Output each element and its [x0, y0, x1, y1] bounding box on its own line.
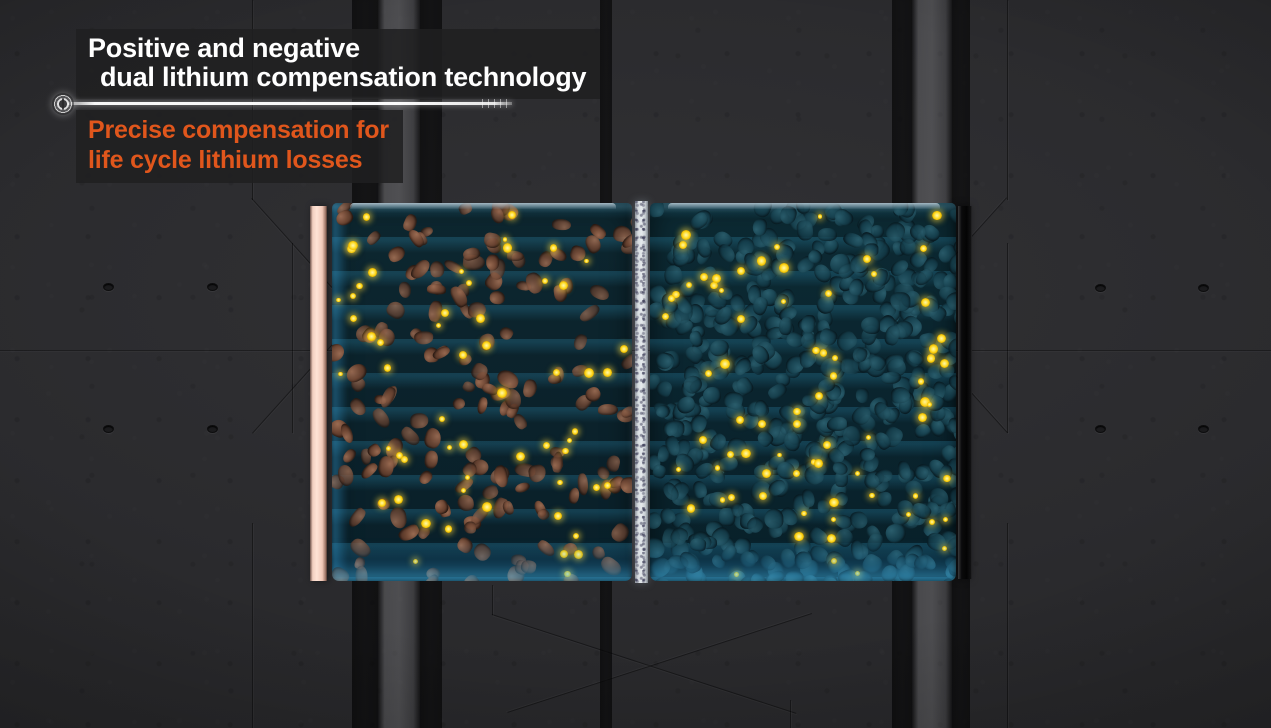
lithium-ion [476, 314, 485, 323]
lithium-ion [584, 259, 589, 264]
lithium-ion [918, 378, 924, 384]
lithium-ion [516, 452, 525, 461]
cathode-top-sheen [350, 203, 616, 209]
lithium-ion [812, 347, 820, 355]
subtitle-line-1: Precise compensation for [88, 115, 389, 145]
panel-seam [1007, 523, 1008, 728]
lithium-ion [367, 332, 376, 341]
lithium-ion [676, 467, 681, 472]
lithium-ion [386, 446, 391, 451]
panel-seam [292, 243, 293, 433]
anode-particle [764, 509, 784, 529]
lithium-ion [603, 368, 612, 377]
rivet-7 [1198, 425, 1209, 433]
rivet-4 [1095, 284, 1106, 292]
anode-particle [860, 317, 879, 334]
lithium-ion [503, 243, 513, 253]
cathode-bottom-glow [332, 541, 632, 581]
panel-seam [1007, 243, 1008, 433]
anode-top-sheen [668, 203, 940, 209]
anode-electrode-layer [650, 203, 956, 581]
lithium-ion [348, 241, 357, 250]
lithium-ion [737, 267, 745, 275]
lithium-ion [445, 525, 452, 532]
rivet-1 [207, 283, 218, 291]
subtitle-panel: Precise compensation for life cycle lith… [76, 110, 403, 183]
lithium-ion [378, 499, 387, 508]
lithium-ion [681, 230, 691, 240]
lithium-ion [686, 282, 692, 288]
lithium-ion [720, 359, 730, 369]
lithium-ion [508, 211, 516, 219]
lithium-ion [503, 237, 508, 242]
cathode-electrode-layer [332, 203, 632, 581]
lithium-ion [793, 408, 801, 416]
lithium-ion [679, 241, 687, 249]
lithium-ion [943, 475, 950, 482]
lithium-ion [712, 274, 721, 283]
lithium-ion [758, 420, 766, 428]
anode-particle [778, 317, 792, 336]
lithium-ion [710, 282, 718, 290]
rivet-3 [207, 425, 218, 433]
cathode-particle [464, 522, 476, 534]
rivet-6 [1095, 425, 1106, 433]
lithium-ion [593, 484, 600, 491]
title-line-1: Positive and negative [88, 34, 586, 63]
panel-seam [492, 585, 493, 615]
lithium-ion [687, 504, 696, 513]
anode-particle [795, 220, 813, 241]
lithium-ion [572, 428, 579, 435]
anode-particle [752, 218, 767, 237]
lithium-ion [932, 211, 942, 221]
lithium-ion [830, 372, 838, 380]
lithium-ion [727, 451, 734, 458]
divider-tick-marks [482, 99, 512, 108]
lithium-ion [350, 315, 357, 322]
lithium-ion [814, 459, 822, 467]
lithium-ion [368, 268, 377, 277]
lithium-ion [554, 512, 562, 520]
lithium-ion [781, 299, 786, 304]
panel-seam [252, 523, 253, 728]
lithium-ion [363, 213, 371, 221]
lithium-ion [927, 402, 932, 407]
lithium-ion [584, 368, 594, 378]
panel-seam [790, 700, 791, 728]
lithium-ion [557, 480, 563, 486]
anode-bottom-glow [650, 541, 956, 581]
lithium-ion [829, 498, 838, 507]
anode-current-collector [958, 206, 972, 579]
anode-particle [801, 314, 816, 333]
lithium-ion [668, 295, 675, 302]
subtitle-line-2: life cycle lithium losses [88, 145, 389, 175]
anode-particle [666, 420, 684, 437]
lithium-ion [705, 370, 712, 377]
lithium-ion [482, 502, 492, 512]
title-line-2: dual lithium compensation technology [88, 63, 586, 92]
rivet-2 [103, 425, 114, 433]
knob-bar-icon [62, 98, 64, 110]
cathode-edge-glow [332, 203, 348, 581]
rivet-0 [103, 283, 114, 291]
lithium-ion [832, 355, 838, 361]
lithium-ion [562, 448, 569, 455]
lithium-ion [779, 263, 789, 273]
title-panel: Positive and negative dual lithium compe… [76, 29, 600, 99]
lithium-ion [436, 323, 441, 328]
battery-cell-illustration [310, 203, 972, 581]
lithium-ion [793, 470, 800, 477]
rivet-5 [1198, 284, 1209, 292]
lithium-ion [350, 293, 356, 299]
lithium-ion [553, 369, 560, 376]
lithium-ion [700, 273, 708, 281]
slide-scene: Positive and negative dual lithium compe… [0, 0, 1271, 728]
lithium-ion [421, 519, 431, 529]
anode-particle [818, 227, 837, 241]
lithium-ion [866, 435, 871, 440]
lithium-ion [825, 290, 832, 297]
playhead-knob-icon[interactable] [52, 93, 74, 115]
lithium-ion [863, 255, 871, 263]
lithium-ion [940, 359, 949, 368]
lithium-ion [757, 256, 767, 266]
divider-line [68, 102, 512, 105]
anode-particle [890, 292, 910, 311]
panel-seam [1007, 0, 1008, 200]
lithium-ion [459, 269, 464, 274]
lithium-ion [918, 413, 927, 422]
cathode-current-collector [310, 206, 327, 581]
lithium-ion [720, 497, 726, 503]
lithium-ion [759, 492, 767, 500]
separator-membrane [635, 201, 648, 583]
lithium-ion [937, 334, 946, 343]
lithium-ion [855, 471, 860, 476]
lithium-ion [604, 482, 611, 489]
lithium-ion [920, 245, 927, 252]
lithium-ion [913, 493, 919, 499]
cathode-particle [414, 331, 433, 344]
lithium-ion [927, 354, 935, 362]
lithium-ion [699, 436, 707, 444]
lithium-ion [459, 440, 468, 449]
lithium-ion [728, 494, 735, 501]
lithium-ion [762, 469, 771, 478]
